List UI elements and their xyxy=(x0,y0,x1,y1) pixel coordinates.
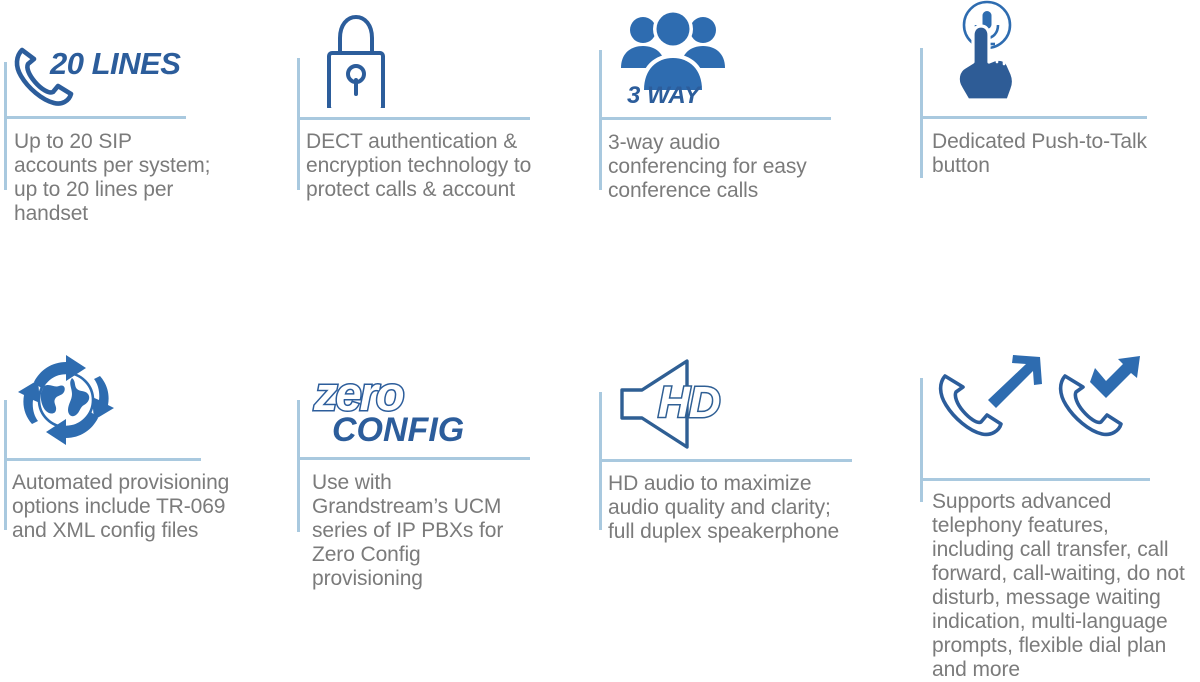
feature-description: Automated provisioning options include T… xyxy=(12,471,234,543)
cell-divider-rule xyxy=(297,117,530,120)
feature-card-twenty-lines: 20 LINES Up to 20 SIP accounts per syste… xyxy=(0,0,290,260)
cell-divider-rule xyxy=(599,459,852,462)
cell-divider-rule xyxy=(599,117,831,120)
config-wordmark: CONFIG xyxy=(332,413,464,447)
cell-left-rule xyxy=(297,58,300,190)
feature-card-three-way-conference: 3 WAY 3-way audio conferencing for easy … xyxy=(596,0,906,260)
cell-divider-rule xyxy=(920,116,1147,119)
cell-left-rule xyxy=(920,48,923,178)
feature-grid: 20 LINES Up to 20 SIP accounts per syste… xyxy=(0,0,1200,641)
feature-description: Dedicated Push-to-Talk button xyxy=(932,130,1182,178)
feature-card-advanced-telephony: Supports advanced telephony features, in… xyxy=(906,340,1200,641)
cell-left-rule xyxy=(599,50,602,190)
globe-sync-arrows-icon xyxy=(14,350,118,450)
cell-left-rule xyxy=(4,62,7,190)
cell-divider-rule xyxy=(297,457,530,460)
feature-card-push-to-talk: Dedicated Push-to-Talk button xyxy=(906,0,1200,260)
cell-divider-rule xyxy=(4,116,186,119)
three-people-icon xyxy=(618,8,728,90)
feature-card-auto-provisioning: Automated provisioning options include T… xyxy=(0,340,290,641)
hand-pressing-microphone-button-icon xyxy=(934,0,1034,106)
feature-wordmark: 3 WAY xyxy=(627,82,700,110)
feature-description: HD audio to maximize audio quality and c… xyxy=(608,472,858,544)
feature-description: Use with Grandstream’s UCM series of IP … xyxy=(312,471,532,591)
feature-card-dect-security: DECT authentication & encryption technol… xyxy=(290,0,596,260)
zero-config-logo-icon: zero CONFIG xyxy=(314,372,464,447)
feature-card-zero-config: zero CONFIG Use with Grandstream’s UCM s… xyxy=(290,340,596,641)
zero-wordmark: zero xyxy=(314,372,464,417)
feature-description: DECT authentication & encryption technol… xyxy=(306,130,544,202)
padlock-icon xyxy=(320,8,392,108)
cell-left-rule xyxy=(4,400,7,530)
feature-wordmark: 20 LINES xyxy=(50,46,180,82)
cell-divider-rule xyxy=(920,478,1150,481)
cell-left-rule xyxy=(920,378,923,502)
call-transfer-forward-icon xyxy=(930,354,1144,458)
feature-description: Supports advanced telephony features, in… xyxy=(932,490,1194,682)
feature-description: 3-way audio conferencing for easy confer… xyxy=(608,131,843,203)
cell-left-rule xyxy=(297,400,300,532)
feature-card-hd-audio: HD HD audio to maximize audio quality an… xyxy=(596,340,906,641)
cell-divider-rule xyxy=(4,458,201,461)
feature-description: Up to 20 SIP accounts per system; up to … xyxy=(14,130,219,226)
feature-wordmark: HD xyxy=(658,378,720,428)
